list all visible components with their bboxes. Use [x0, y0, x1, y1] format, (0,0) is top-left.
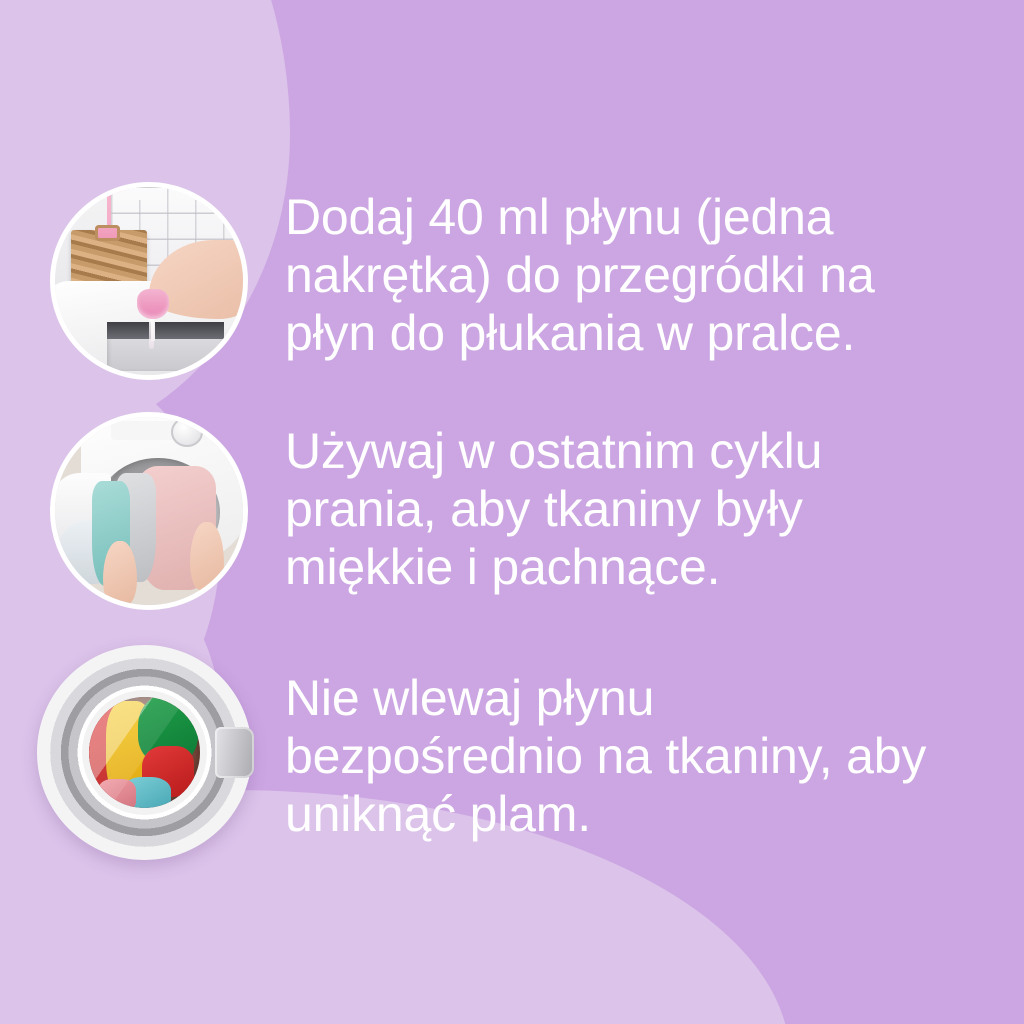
step-3-text: Nie wlewaj płynu bezpośrednio na tkaniny… — [285, 645, 1024, 843]
step-3-thumbnail-slot — [0, 645, 285, 860]
door-latch-icon — [215, 727, 254, 779]
washing-machine-drawer-illustration — [55, 187, 243, 375]
step-1-text: Dodaj 40 ml płynu (jedna nakrętka) do pr… — [285, 182, 1024, 362]
step-2-thumbnail-slot — [0, 412, 285, 610]
towels-from-drum-illustration — [55, 417, 243, 605]
measuring-cap-icon — [137, 289, 169, 319]
step-2-image — [50, 412, 248, 610]
step-3-image — [37, 645, 252, 860]
door-glass — [89, 697, 201, 809]
machine-door-icon — [37, 645, 252, 860]
step-item: Nie wlewaj płynu bezpośrednio na tkaniny… — [0, 645, 1024, 860]
step-1-image — [50, 182, 248, 380]
instruction-poster: Dodaj 40 ml płynu (jedna nakrętka) do pr… — [0, 0, 1024, 1024]
control-knob-icon — [171, 417, 203, 447]
hand-icon — [190, 522, 224, 590]
washing-machine-door-illustration — [37, 645, 252, 860]
hand-icon — [103, 541, 137, 605]
steps-list: Dodaj 40 ml płynu (jedna nakrętka) do pr… — [0, 0, 1024, 1024]
step-2-text: Używaj w ostatnim cyklu prania, aby tkan… — [285, 412, 1024, 596]
detergent-drawer-icon — [107, 322, 224, 371]
step-item: Dodaj 40 ml płynu (jedna nakrętka) do pr… — [0, 182, 1024, 380]
step-1-thumbnail-slot — [0, 182, 285, 380]
step-item: Używaj w ostatnim cyklu prania, aby tkan… — [0, 412, 1024, 610]
